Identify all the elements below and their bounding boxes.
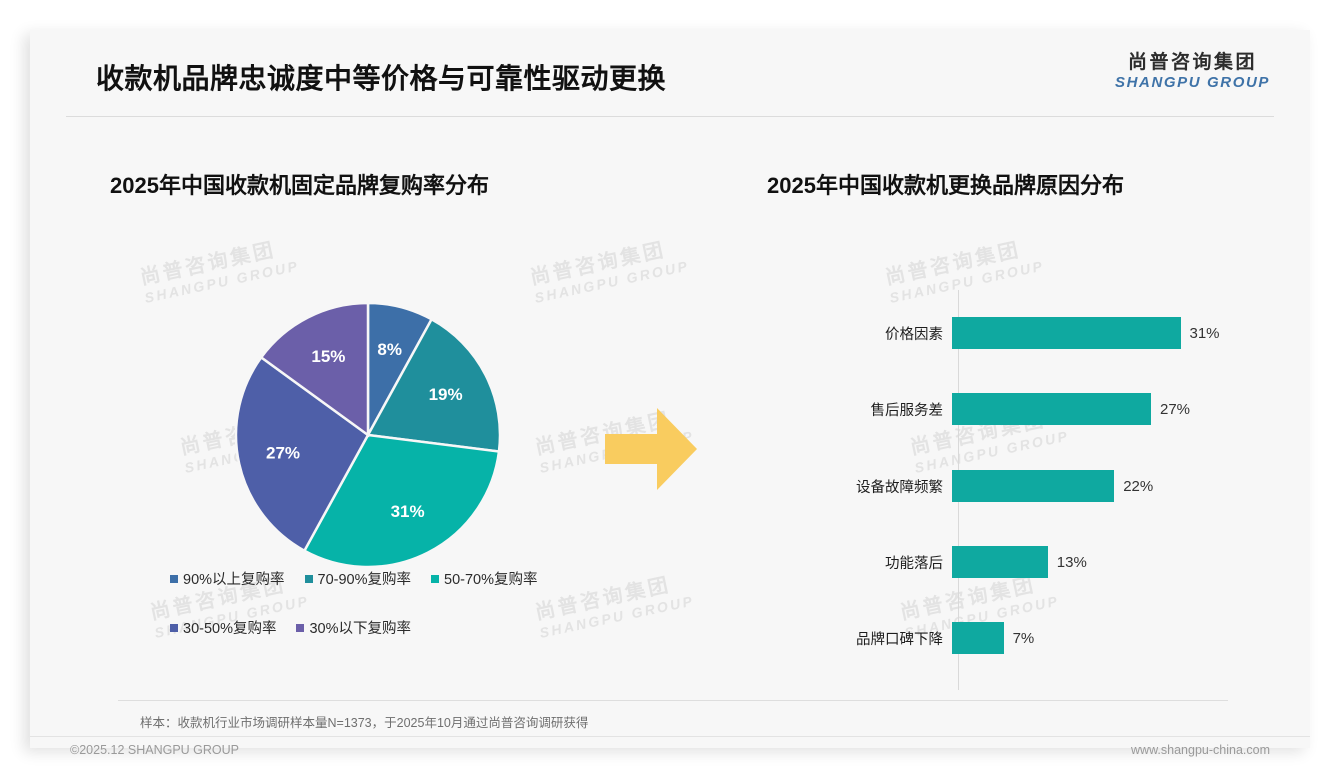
pie-slice-label: 19%: [429, 385, 463, 404]
pie-legend: 90%以上复购率70-90%复购率50-70%复购率 30-50%复购率30%以…: [170, 568, 610, 666]
legend-swatch-icon: [170, 575, 178, 583]
bar-chart-row: 售后服务差27%: [820, 393, 1280, 425]
legend-swatch-icon: [170, 624, 178, 632]
footer-divider: [30, 736, 1310, 737]
legend-item-label: 50-70%复购率: [444, 568, 537, 589]
bar-fill[interactable]: [952, 470, 1114, 502]
legend-item[interactable]: 30%以下复购率: [296, 617, 411, 638]
footer-copyright: ©2025.12 SHANGPU GROUP: [70, 743, 239, 757]
bar-value-label: 13%: [1057, 554, 1087, 571]
bar-value-label: 31%: [1190, 325, 1220, 342]
bar-fill[interactable]: [952, 546, 1048, 578]
header-divider: [66, 116, 1274, 117]
right-arrow-svg: [605, 408, 697, 490]
watermark-line1: 尚普咨询集团: [527, 229, 687, 290]
pie-chart: 8%19%31%27%15%: [235, 302, 501, 568]
watermark-line1: 尚普咨询集团: [882, 229, 1042, 290]
right-arrow-icon: [605, 408, 697, 495]
bar-value-label: 7%: [1013, 630, 1035, 647]
pie-slice-label: 15%: [311, 347, 345, 366]
pie-chart-svg: 8%19%31%27%15%: [235, 302, 501, 568]
bar-chart-row: 价格因素31%: [820, 317, 1280, 349]
footnote-divider: [118, 700, 1228, 701]
logo-chinese-text: 尚普咨询集团: [1115, 52, 1270, 74]
watermark: 尚普咨询集团 SHANGPU GROUP: [527, 229, 691, 306]
slide-canvas: 尚普咨询集团 SHANGPU GROUP 尚普咨询集团 SHANGPU GROU…: [30, 30, 1310, 748]
logo-english-text: SHANGPU GROUP: [1115, 74, 1270, 92]
bar-chart-row: 品牌口碑下降7%: [820, 622, 1280, 654]
legend-row: 30-50%复购率30%以下复购率: [170, 617, 610, 638]
footer-website[interactable]: www.shangpu-china.com: [1131, 743, 1270, 757]
bar-value-label: 27%: [1160, 401, 1190, 418]
legend-item-label: 70-90%复购率: [318, 568, 411, 589]
right-chart-title: 2025年中国收款机更换品牌原因分布: [767, 168, 1124, 200]
legend-swatch-icon: [296, 624, 304, 632]
bar-category-label: 设备故障频繁: [820, 476, 952, 497]
legend-row: 90%以上复购率70-90%复购率50-70%复购率: [170, 568, 610, 589]
left-chart-title: 2025年中国收款机固定品牌复购率分布: [110, 168, 489, 200]
legend-item-label: 30-50%复购率: [183, 617, 276, 638]
bar-fill[interactable]: [952, 317, 1181, 349]
legend-item[interactable]: 30-50%复购率: [170, 617, 276, 638]
watermark-line2: SHANGPU GROUP: [533, 257, 691, 305]
watermark: 尚普咨询集团 SHANGPU GROUP: [137, 229, 301, 306]
legend-item-label: 90%以上复购率: [183, 568, 285, 589]
legend-item-label: 30%以下复购率: [309, 617, 411, 638]
legend-item[interactable]: 70-90%复购率: [305, 568, 411, 589]
bar-chart-row: 设备故障频繁22%: [820, 470, 1280, 502]
legend-item[interactable]: 50-70%复购率: [431, 568, 537, 589]
bar-chart: 价格因素31%售后服务差27%设备故障频繁22%功能落后13%品牌口碑下降7%: [820, 290, 1280, 690]
legend-item[interactable]: 90%以上复购率: [170, 568, 285, 589]
bar-value-label: 22%: [1123, 478, 1153, 495]
brand-logo: 尚普咨询集团 SHANGPU GROUP: [1115, 52, 1270, 92]
bar-chart-row: 功能落后13%: [820, 546, 1280, 578]
legend-swatch-icon: [431, 575, 439, 583]
bar-category-label: 品牌口碑下降: [820, 628, 952, 649]
watermark-line2: SHANGPU GROUP: [143, 257, 301, 305]
pie-slice-label: 31%: [391, 502, 425, 521]
page-title: 收款机品牌忠诚度中等价格与可靠性驱动更换: [96, 57, 666, 97]
bar-fill[interactable]: [952, 393, 1151, 425]
pie-slice-label: 8%: [377, 340, 402, 359]
bar-category-label: 售后服务差: [820, 399, 952, 420]
bar-category-label: 功能落后: [820, 552, 952, 573]
pie-slices: [236, 303, 500, 567]
slide-header: 收款机品牌忠诚度中等价格与可靠性驱动更换 尚普咨询集团 SHANGPU GROU…: [30, 30, 1310, 116]
footnote-text: 样本：收款机行业市场调研样本量N=1373，于2025年10月通过尚普咨询调研获…: [140, 712, 588, 731]
legend-swatch-icon: [305, 575, 313, 583]
bar-fill[interactable]: [952, 622, 1004, 654]
watermark-line1: 尚普咨询集团: [137, 229, 297, 290]
pie-slice-label: 27%: [266, 443, 300, 462]
bar-category-label: 价格因素: [820, 323, 952, 344]
